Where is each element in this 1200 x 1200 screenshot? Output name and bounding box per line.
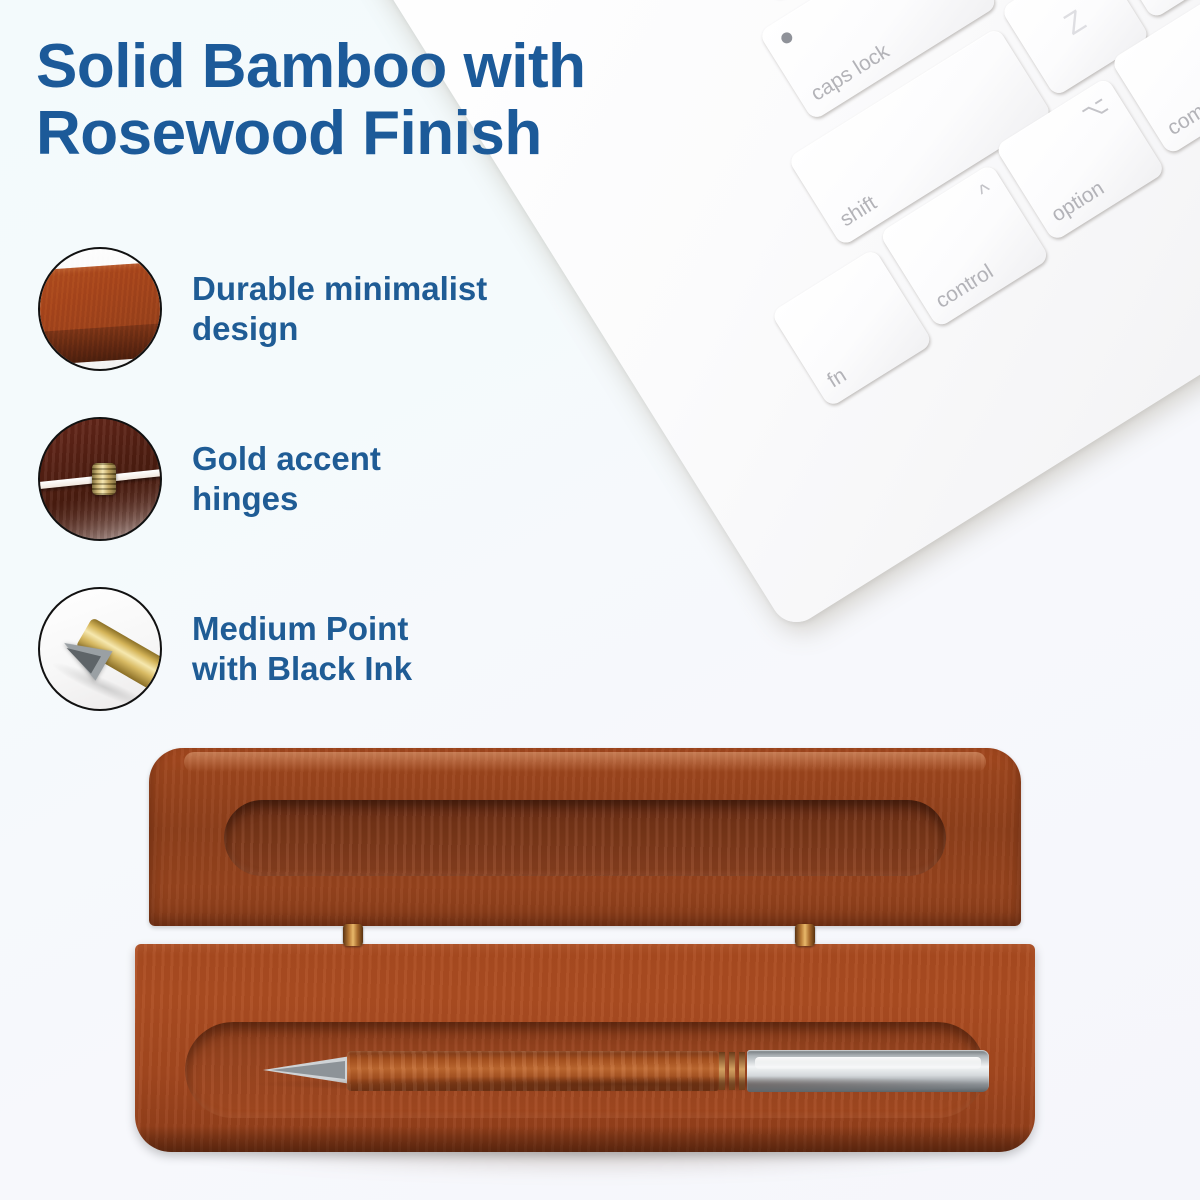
hinge-right-icon [795,924,815,946]
pen-drop-shadow [255,1076,995,1092]
wood-grain-overlay [40,249,160,369]
box-base[interactable] [135,944,1035,1152]
control-caret-icon: ^ [974,178,997,207]
hinge-left-icon [343,924,363,946]
feature-label-gold-hinges: Gold accent hinges [192,439,381,518]
gold-hinge-barrel-icon [92,463,116,495]
feature-item-gold-hinges: Gold accent hinges [38,416,678,541]
feature-label-durable-design: Durable minimalist design [192,269,487,348]
rosewood-pen-gift-box [135,748,1035,1178]
hinge-closeup-photo-icon [38,417,162,541]
feature-list: Durable minimalist design Gold accent hi… [38,246,678,756]
shift-label: shift [836,191,881,232]
option-glyph-icon: ⌥ [1076,91,1113,128]
feature-item-medium-point: Medium Point with Black Ink [38,586,678,711]
box-corner-photo-icon [38,247,162,371]
base-bottom-shading [135,1126,1035,1152]
lid-top-highlight [184,752,986,772]
chrome-cap-highlight [755,1057,981,1069]
page-title: Solid Bamboo with Rosewood Finish [36,34,856,168]
lid-groove [224,800,946,876]
key-z-label: Z [1059,4,1093,43]
fn-label: fn [823,364,851,394]
headline-line-1: Solid Bamboo with [36,34,856,101]
headline-line-2: Rosewood Finish [36,101,856,168]
product-feature-poster: ~ ` tab Q caps lock A shift Z f [0,0,1200,1200]
pen-tip-photo-icon [38,587,162,711]
feature-item-durable-design: Durable minimalist design [38,246,678,371]
command-label: command [1163,72,1200,141]
pen-well [185,1022,984,1118]
box-lid[interactable] [149,748,1021,926]
feature-label-medium-point: Medium Point with Black Ink [192,609,412,688]
